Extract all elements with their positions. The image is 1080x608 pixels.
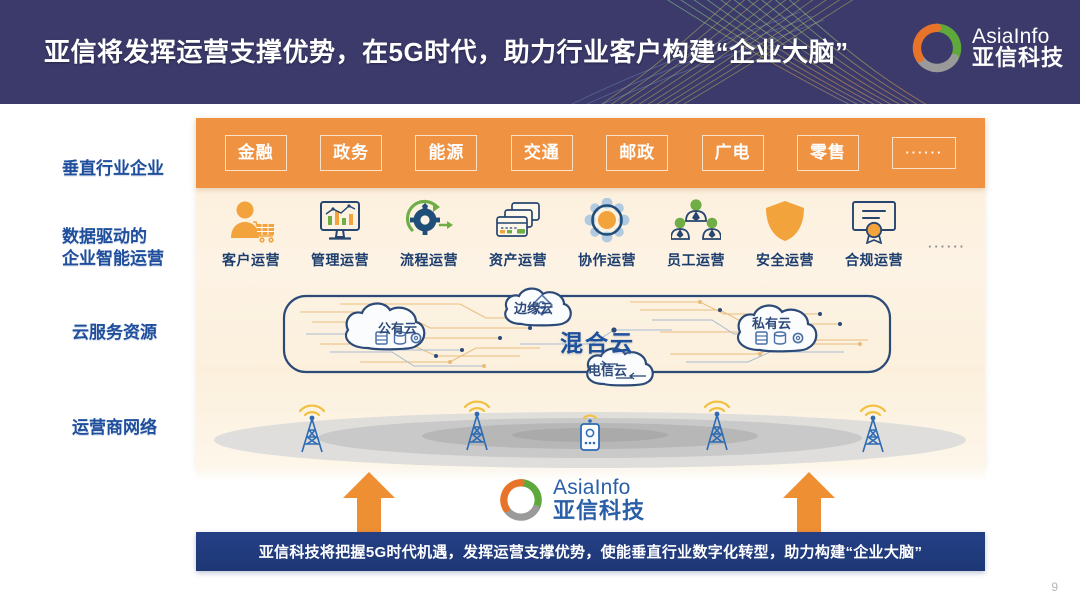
operation-item-compliance[interactable]: 合规运营	[831, 196, 917, 270]
cloud-band: 公有云 边缘云 电信云 私有云 混合云	[200, 282, 982, 388]
header-logo-cn: 亚信科技	[972, 47, 1064, 70]
upward-arrow-right-icon	[781, 470, 837, 534]
customer-operation-icon	[226, 196, 276, 246]
page-number: 9	[1051, 580, 1058, 594]
industry-tag-energy[interactable]: 能源	[415, 135, 477, 172]
operations-row: 客户运营 管理	[200, 196, 982, 278]
collaboration-operation-icon	[582, 196, 632, 246]
industry-tag-government[interactable]: 政务	[320, 135, 382, 172]
industry-tag-finance[interactable]: 金融	[225, 135, 287, 172]
center-asiainfo-logo: AsiaInfo 亚信科技	[497, 476, 645, 524]
cloud-label-private: 私有云	[752, 313, 791, 332]
rail-label-data-driven-operation: 数据驱动的 企业智能运营	[62, 226, 164, 271]
process-operation-icon	[403, 196, 455, 246]
slide-header: 亚信将发挥运营支撑优势，在5G时代，助力行业客户构建“企业大脑” AsiaInf…	[0, 0, 1080, 104]
operation-item-customer[interactable]: 客户运营	[208, 196, 294, 270]
cloud-label-edge: 边缘云	[514, 298, 553, 317]
center-logo-cn: 亚信科技	[553, 499, 645, 522]
operation-item-management[interactable]: 管理运营	[297, 196, 383, 270]
upward-arrow-left-icon	[341, 470, 397, 534]
cloud-label-public: 公有云	[378, 318, 417, 337]
page-title: 亚信将发挥运营支撑优势，在5G时代，助力行业客户构建“企业大脑”	[44, 32, 849, 69]
industry-tag-broadcast[interactable]: 广电	[702, 135, 764, 172]
operation-label: 资产运营	[489, 250, 547, 270]
operation-label: 流程运营	[400, 250, 458, 270]
industry-tag-retail[interactable]: 零售	[797, 135, 859, 172]
operation-label: 员工运营	[667, 250, 725, 270]
asset-operation-icon	[492, 196, 544, 246]
rail-label-operator-network: 运营商网络	[72, 417, 157, 439]
rail-label-line1: 数据驱动的	[62, 226, 164, 248]
summary-banner: 亚信科技将把握5G时代机遇，发挥运营支撑优势，使能垂直行业数字化转型，助力构建“…	[196, 532, 985, 571]
industry-strip: 金融 政务 能源 交通 邮政 广电 零售 ······	[196, 118, 985, 188]
rail-label-line2: 企业智能运营	[62, 248, 164, 270]
management-operation-icon	[315, 196, 365, 246]
header-logo-en: AsiaInfo	[972, 26, 1064, 48]
summary-banner-text: 亚信科技将把握5G时代机遇，发挥运营支撑优势，使能垂直行业数字化转型，助力构建“…	[259, 541, 923, 562]
industry-tag-transport[interactable]: 交通	[511, 135, 573, 172]
asiainfo-logo-icon	[909, 20, 965, 76]
header-logo: AsiaInfo 亚信科技	[909, 20, 1064, 76]
network-coverage-graphic	[196, 394, 985, 474]
security-operation-icon	[760, 196, 810, 246]
industry-tag-post[interactable]: 邮政	[606, 135, 668, 172]
operation-label: 管理运营	[311, 250, 369, 270]
operator-network-band	[196, 394, 985, 474]
operation-label: 合规运营	[845, 250, 903, 270]
rail-label-vertical-industry: 垂直行业企业	[62, 158, 164, 180]
operation-item-security[interactable]: 安全运营	[742, 196, 828, 270]
slide-body: 垂直行业企业 数据驱动的 企业智能运营 云服务资源 运营商网络 金融 政务 能源…	[0, 104, 1080, 608]
operation-item-collaboration[interactable]: 协作运营	[564, 196, 650, 270]
asiainfo-logo-icon	[497, 476, 545, 524]
operation-label: 客户运营	[222, 250, 280, 270]
center-logo-en: AsiaInfo	[553, 477, 645, 499]
compliance-operation-icon	[848, 196, 900, 246]
cloud-label-telecom: 电信云	[588, 360, 627, 379]
industry-tag-more[interactable]: ······	[892, 137, 956, 169]
cloud-label-hybrid: 混合云	[560, 324, 635, 358]
operation-label: 协作运营	[578, 250, 636, 270]
operation-item-employee[interactable]: 员工运营	[653, 196, 739, 270]
operation-label: 安全运营	[756, 250, 814, 270]
operation-item-asset[interactable]: 资产运营	[475, 196, 561, 270]
slide-root: 亚信将发挥运营支撑优势，在5G时代，助力行业客户构建“企业大脑” AsiaInf…	[0, 0, 1080, 608]
employee-operation-icon	[671, 196, 721, 246]
operations-more-ellipsis: ······	[920, 239, 974, 254]
operation-item-process[interactable]: 流程运营	[386, 196, 472, 270]
rail-label-cloud-resource: 云服务资源	[72, 322, 157, 344]
